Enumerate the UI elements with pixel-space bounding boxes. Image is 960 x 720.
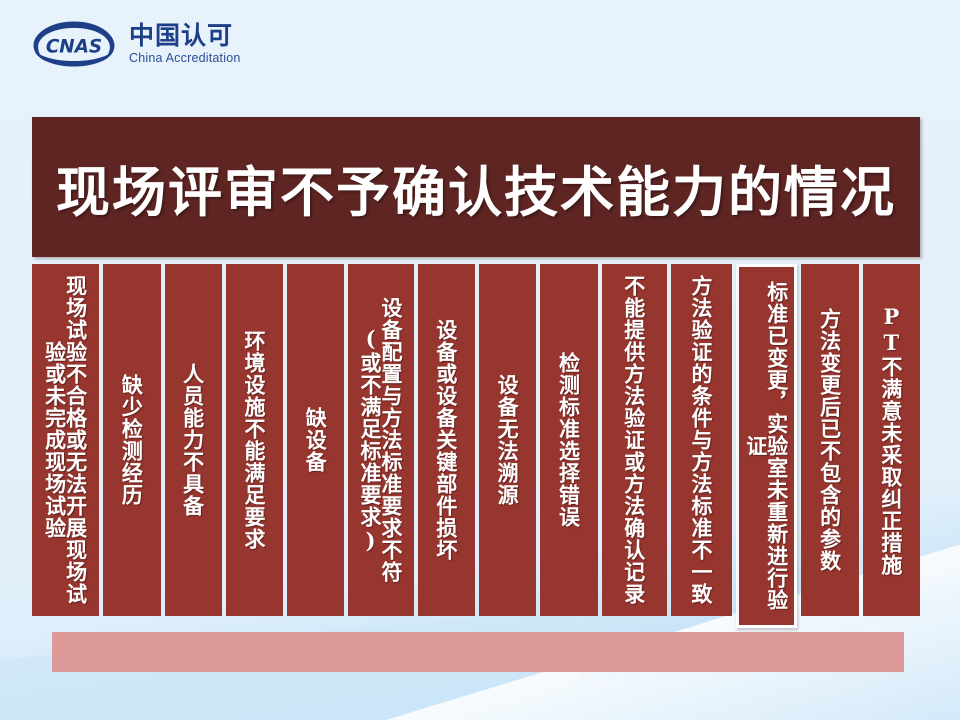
category-column[interactable]: 不能提供方法验证或方法确认记录 <box>602 264 667 616</box>
category-column[interactable]: 设备或设备关键部件损坏 <box>418 264 475 616</box>
category-column-label: 不能提供方法验证或方法确认记录 <box>624 273 645 607</box>
category-column-label: 方法验证的条件与方法标准不一致 <box>691 273 712 607</box>
category-column[interactable]: 方法验证的条件与方法标准不一致 <box>671 264 732 616</box>
category-column-label: 缺少检测经历 <box>121 372 142 508</box>
category-column-label: 检测标准选择错误 <box>558 350 579 530</box>
category-column-label: 标准已变更，实验室未重新进行验证 <box>746 279 788 613</box>
logo-english-name: China Accreditation <box>129 52 241 65</box>
category-column[interactable]: 设备配置与方法标准要求不符(或不满足标准要求) <box>348 264 413 616</box>
category-column-label: 现场试验不合格或无法开展现场试验或未完成现场试验 <box>45 273 87 607</box>
category-column-label: 设备配置与方法标准要求不符(或不满足标准要求) <box>360 273 402 607</box>
bottom-accent-bar <box>52 632 904 672</box>
category-column-label: 环境设施不能满足要求 <box>244 328 265 552</box>
slide-title: 现场评审不予确认技术能力的情况 <box>56 148 896 227</box>
category-column[interactable]: 方法变更后已不包含的参数 <box>801 264 858 616</box>
category-column[interactable]: 人员能力不具备 <box>165 264 222 616</box>
category-column-label: PT不满意未采取纠正措施 <box>881 302 902 578</box>
title-banner: 现场评审不予确认技术能力的情况 <box>32 117 920 257</box>
logo-text-block: 中国认可 China Accreditation <box>129 23 241 65</box>
category-column[interactable]: 缺少检测经历 <box>103 264 160 616</box>
category-columns: 现场试验不合格或无法开展现场试验或未完成现场试验缺少检测经历人员能力不具备环境设… <box>32 264 920 620</box>
category-column[interactable]: 设备无法溯源 <box>479 264 536 616</box>
category-column-label: 人员能力不具备 <box>183 361 204 519</box>
category-column[interactable]: PT不满意未采取纠正措施 <box>863 264 920 616</box>
svg-text:CNAS: CNAS <box>46 37 102 58</box>
slide-canvas: CNAS 中国认可 China Accreditation 现场评审不予确认技术… <box>0 0 960 720</box>
category-column-label: 设备无法溯源 <box>497 372 518 508</box>
category-column-label: 方法变更后已不包含的参数 <box>820 306 841 574</box>
category-column-label: 缺设备 <box>305 405 326 475</box>
category-column[interactable]: 现场试验不合格或无法开展现场试验或未完成现场试验 <box>32 264 99 616</box>
logo-chinese-name: 中国认可 <box>129 23 241 48</box>
category-column[interactable]: 环境设施不能满足要求 <box>226 264 283 616</box>
cnas-logo-icon: CNAS <box>28 18 120 70</box>
category-column[interactable]: 缺设备 <box>287 264 344 616</box>
category-column-label: 设备或设备关键部件损坏 <box>436 317 457 563</box>
category-column[interactable]: 标准已变更，实验室未重新进行验证 <box>736 264 797 628</box>
cnas-logo: CNAS 中国认可 China Accreditation <box>28 18 241 70</box>
category-column[interactable]: 检测标准选择错误 <box>540 264 597 616</box>
